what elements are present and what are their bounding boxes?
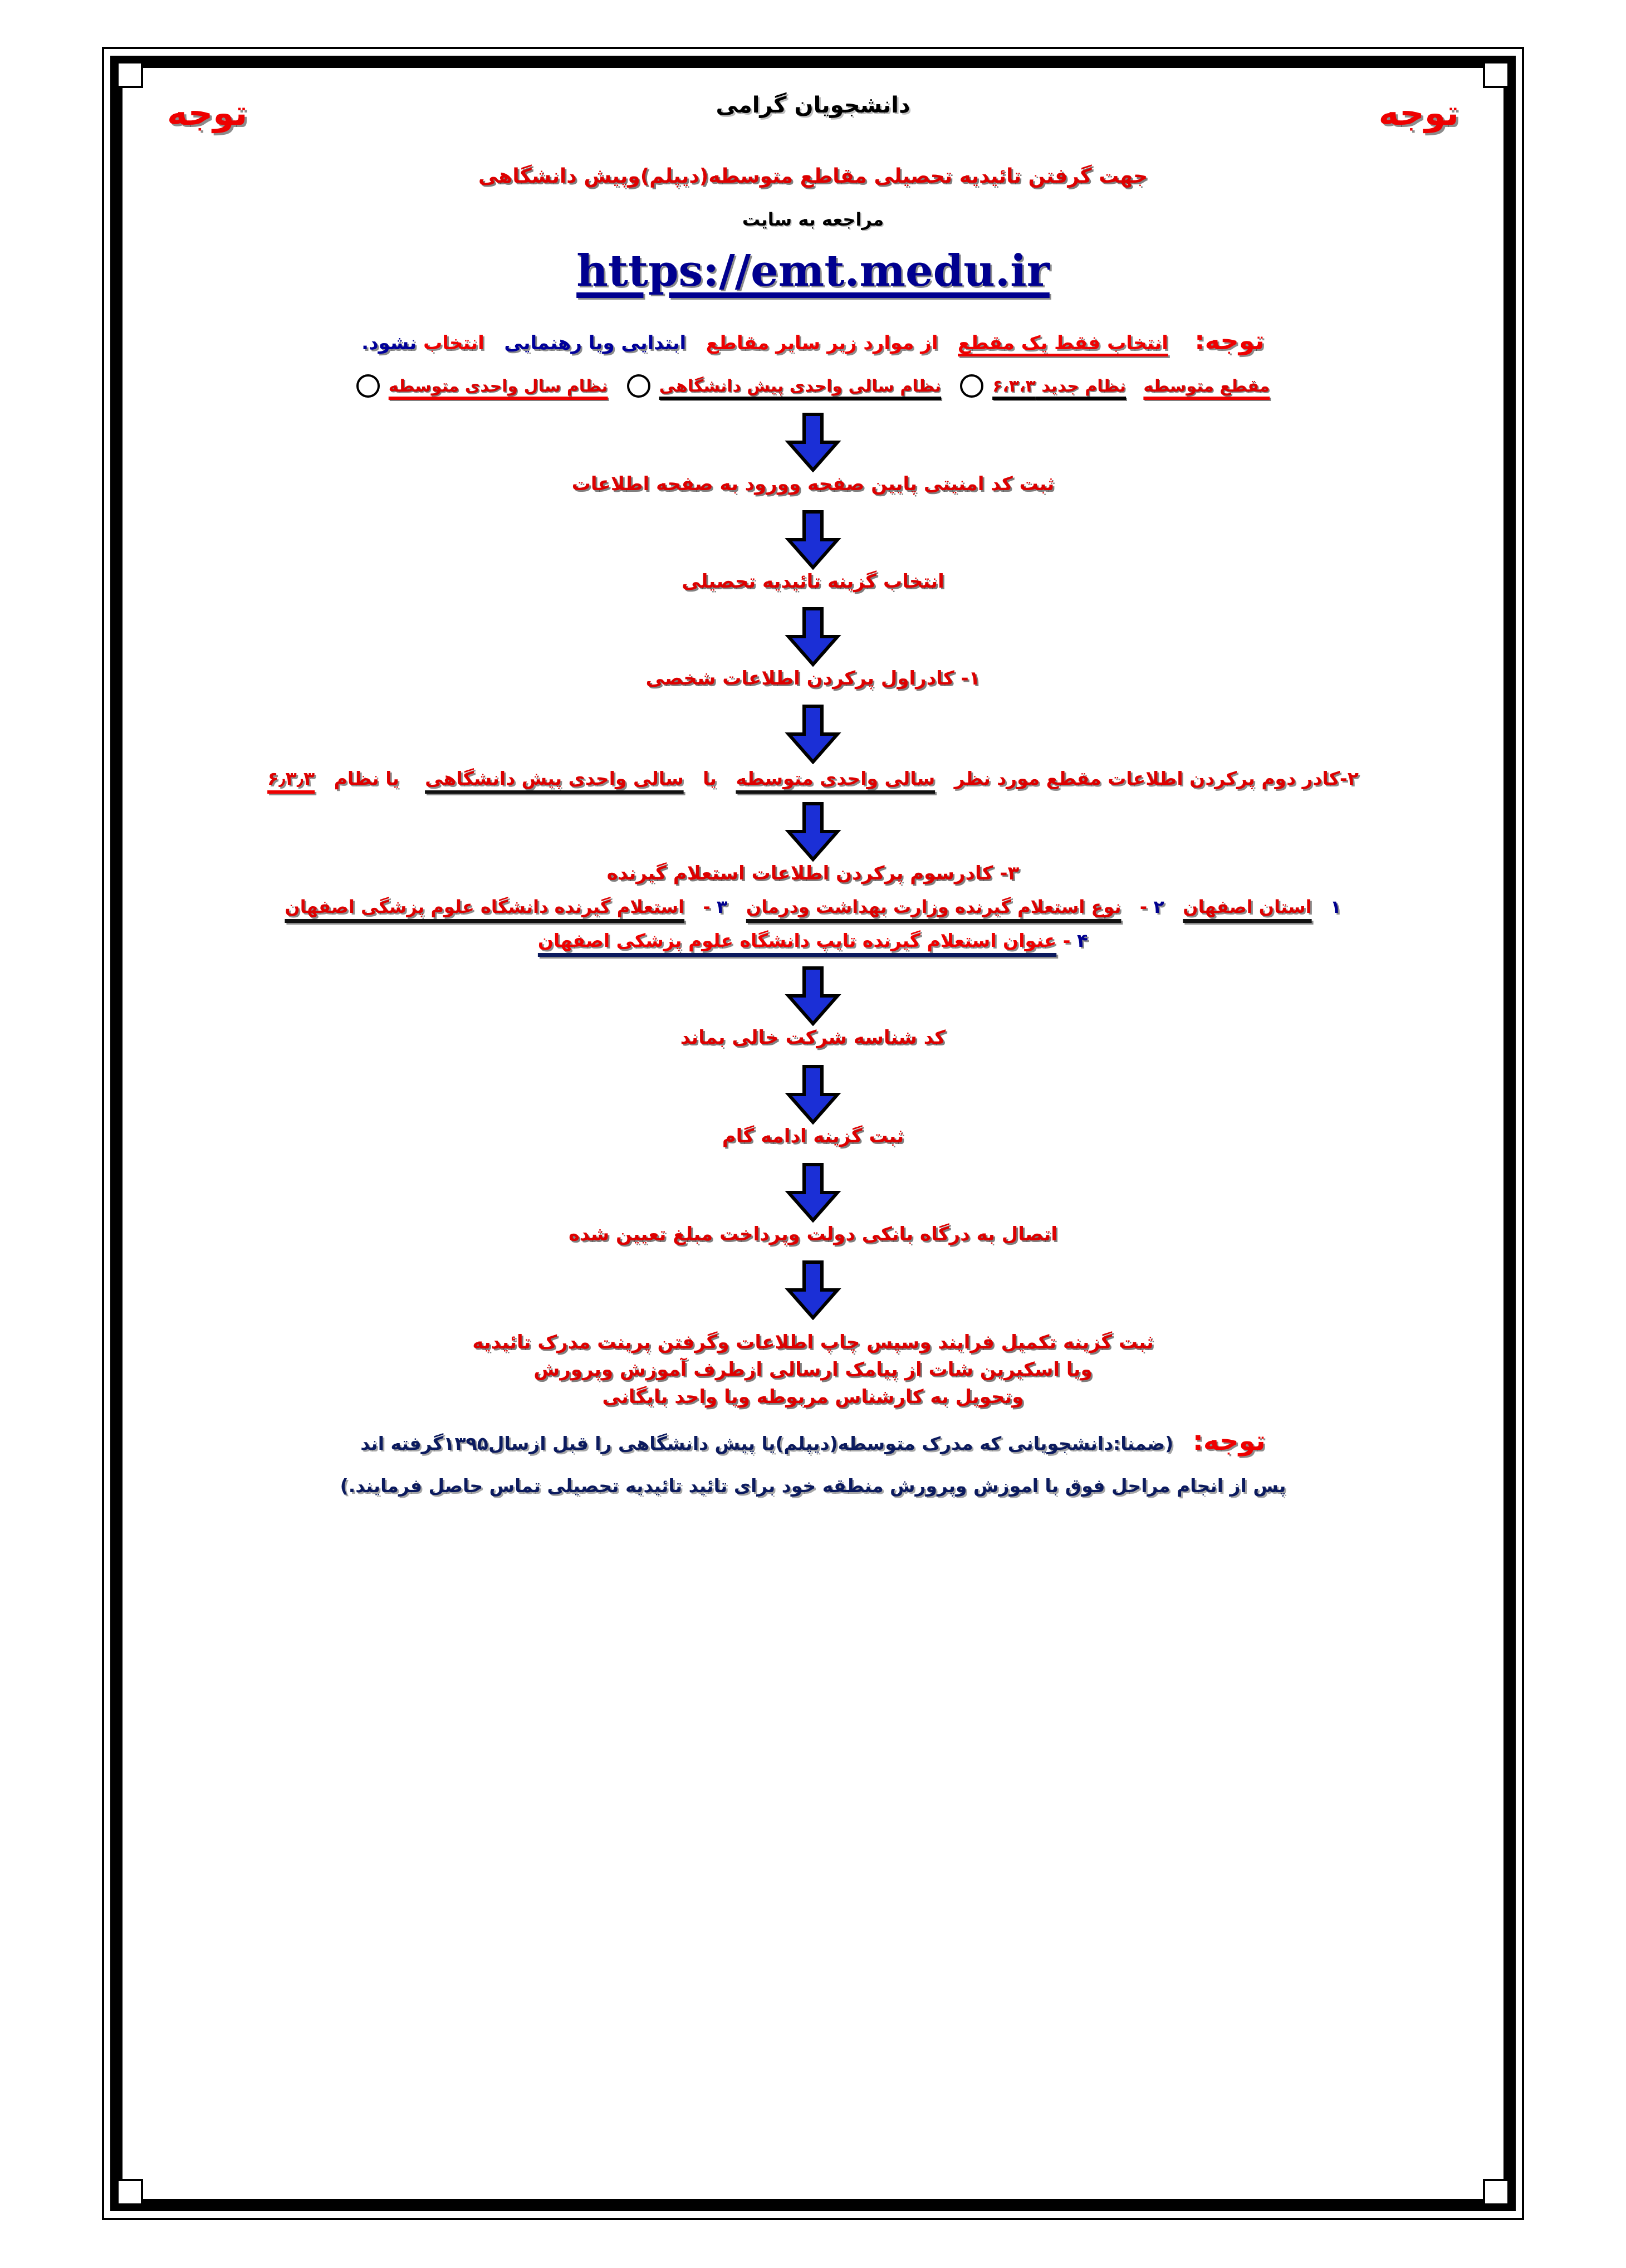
final-line-3: وتحویل به کارشناس مربوطه ویا واحد بایگان… (157, 1384, 1469, 1411)
kadr2-mid2: یا نظام (334, 768, 399, 789)
closing-note-block: توجه: (ضمنا:دانشجویانی که مدرک متوسطه(دی… (157, 1421, 1469, 1500)
flow-step-personal-info: ۱- کادراول پرکردن اطلاعات شخصی (157, 667, 1469, 691)
down-arrow-icon-1 (157, 412, 1469, 472)
kadr2-option-b: سالی واحدی پیش دانشگاهی (425, 768, 684, 789)
down-arrow-icon-5 (157, 801, 1469, 862)
option-label-pre-university-text: نظام سالی واحدی پیش دانشگاهی (659, 377, 942, 396)
kadr3-item-4-num: ۴ (1077, 930, 1088, 951)
flow-step-company-id-empty: کد شناسه شرکت خالی بماند (157, 1026, 1469, 1050)
kadr2-option-a: سالی واحدی متوسطه (736, 768, 935, 789)
option-label-year-unit-secondary: نظام سال واحدی متوسطه (389, 377, 608, 396)
note-part-2: از موارد زیر سایر مقاطع (706, 332, 938, 354)
note-part-5: نشود. (361, 332, 417, 354)
option-label-pre-university: نظام سالی واحدی پیش دانشگاهی (659, 377, 942, 396)
option-label-new-system-633-part1: نظام جدید ۶،۳،۳ (992, 377, 1126, 396)
kadr3-item-2-num: ۲ (1153, 896, 1164, 917)
flow-step-kadr2-level-info: ۲-کادر دوم پرکردن اطلاعات مقطع مورد نظر … (157, 768, 1469, 789)
kadr2-prefix: ۲-کادر دوم پرکردن اطلاعات مقطع مورد نظر (954, 768, 1359, 789)
closing-note-line-2: پس از انجام مراحل فوق با اموزش وپرورش من… (157, 1472, 1469, 1500)
final-line-2: ویا اسکیرین شات از پیامک ارسالی ازطرف آم… (157, 1356, 1469, 1384)
attention-heading-right: توجه (1379, 92, 1459, 133)
flow-step-security-code: ثبت کد امنیتی پایین صفحه وورود به صفحه ا… (157, 472, 1469, 496)
selection-note: توجه: انتخاب فقط یک مقطع از موارد زیر سا… (157, 325, 1469, 355)
down-arrow-icon-9 (157, 1260, 1469, 1320)
closing-note-line-1: (ضمنا:دانشجویانی که مدرک متوسطه(دیپلم)یا… (360, 1433, 1173, 1454)
down-arrow-icon-3 (157, 607, 1469, 667)
down-arrow-icon-8 (157, 1162, 1469, 1223)
radio-new-system-633[interactable] (960, 374, 983, 398)
document-page: توجه توجه دانشجویان گرامی جهت گرفتن تائی… (0, 0, 1626, 2268)
kadr3-item-4-label: عنوان استعلام گیرنده تایپ دانشگاه علوم پ… (538, 930, 1056, 951)
radio-pre-university[interactable] (627, 374, 650, 398)
attention-heading-left: توجه (167, 92, 247, 133)
down-arrow-icon-4 (157, 704, 1469, 764)
option-pre-university[interactable]: نظام سالی واحدی پیش دانشگاهی (627, 374, 942, 398)
note-part-4: انتخاب (423, 332, 484, 354)
final-line-1: ثبت گزینه تکمیل فرایند وسپس چاپ اطلاعات … (157, 1329, 1469, 1356)
flow-step-continue-button: ثبت گزینه ادامه گام (157, 1125, 1469, 1148)
kadr3-item-2-sep: - (1140, 896, 1147, 917)
kadr2-mid: یا (703, 768, 717, 789)
page-title: دانشجویان گرامی (157, 92, 1469, 118)
header-row: توجه توجه دانشجویان گرامی (157, 92, 1469, 146)
kadr2-option-c: ۶٫۳٫۳ (267, 768, 315, 789)
system-type-option-group[interactable]: مقطع متوسطه نظام جدید ۶،۳،۳ نظام سالی وا… (157, 374, 1469, 398)
kadr3-item-3-sep: - (703, 896, 711, 917)
visit-site-label: مراجعه به سایت (157, 209, 1469, 230)
closing-note-tag: توجه: (1193, 1425, 1266, 1456)
kadr3-item-4-sep: - (1063, 930, 1071, 951)
note-part-1: انتخاب فقط یک مقطع (958, 332, 1168, 354)
flow-step-bank-gateway-payment: اتصال به درگاه بانکی دولت وپرداخت مبلغ ت… (157, 1223, 1469, 1247)
kadr3-item-2-label: نوع استعلام گیرنده وزارت بهداشت ودرمان (746, 896, 1121, 917)
option-new-system-633[interactable]: مقطع متوسطه نظام جدید ۶،۳،۳ (960, 374, 1270, 398)
note-part-3: ابتدایی ویا رهنمایی (504, 332, 686, 354)
kadr3-item-1-label: استان اصفهان (1183, 896, 1311, 917)
down-arrow-icon-7 (157, 1064, 1469, 1125)
final-instructions-block: ثبت گزینه تکمیل فرایند وسپس چاپ اطلاعات … (157, 1329, 1469, 1411)
kadr3-items-row: ۱ استان اصفهان ۲ - نوع استعلام گیرنده وز… (157, 896, 1469, 917)
option-label-new-system-633-part2: مقطع متوسطه (1143, 377, 1270, 396)
document-content: توجه توجه دانشجویان گرامی جهت گرفتن تائی… (131, 77, 1495, 2190)
option-label-new-system-633: مقطع متوسطه نظام جدید ۶،۳،۳ (992, 377, 1270, 396)
kadr3-item-3-label: استعلام گیرنده دانشگاه علوم پزشگی اصفهان (285, 896, 684, 917)
radio-year-unit-secondary[interactable] (356, 374, 380, 398)
note-tag: توجه: (1194, 325, 1265, 355)
option-label-year-unit-secondary-text: نظام سال واحدی متوسطه (389, 377, 608, 396)
kadr3-item-1-num: ۱ (1330, 896, 1341, 917)
kadr3-item-4-row: ۴ - عنوان استعلام گیرنده تایپ دانشگاه عل… (157, 930, 1469, 951)
flow-step-kadr3-title: ۳- کادرسوم پرکردن اطلاعات استعلام گیرنده (157, 862, 1469, 886)
kadr3-item-3-num: ۳ (717, 896, 728, 917)
option-year-unit-secondary[interactable]: نظام سال واحدی متوسطه (356, 374, 608, 398)
down-arrow-icon-6 (157, 966, 1469, 1026)
site-url-link[interactable]: https://emt.medu.ir (157, 246, 1469, 296)
down-arrow-icon-2 (157, 510, 1469, 570)
header-subtitle: جهت گرفتن تائیدیه تحصیلی مقاطع متوسطه(دی… (157, 165, 1469, 188)
flow-step-select-certificate-option: انتخاب گزینه تائیدیه تحصیلی (157, 570, 1469, 594)
